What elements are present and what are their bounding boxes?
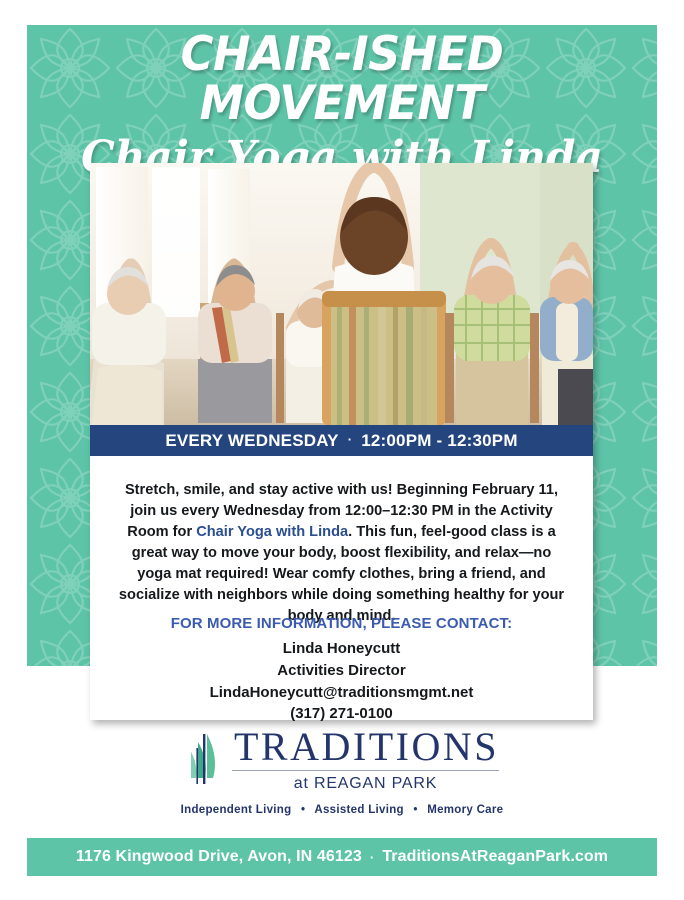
logo-location: at REAGAN PARK — [232, 774, 499, 793]
logo-wordmark: TRADITIONS — [232, 727, 499, 767]
event-description: Stretch, smile, and stay active with us!… — [118, 480, 565, 627]
schedule-time: 12:00PM - 12:30PM — [361, 431, 517, 451]
logo-services-line: Independent Living • Assisted Living • M… — [0, 804, 684, 816]
service-memory-care: Memory Care — [427, 804, 503, 816]
logo-divider — [232, 770, 499, 771]
footer-bar: 1176 Kingwood Drive, Avon, IN 46123 · Tr… — [27, 838, 657, 876]
footer-website[interactable]: TraditionsAtReaganPark.com — [382, 848, 608, 866]
contact-email[interactable]: LindaHoneycutt@traditionsmgmt.net — [118, 682, 565, 704]
flyer-page: CHAIR-ISHED MOVEMENT Chair Yoga with Lin… — [0, 0, 684, 900]
service-independent-living: Independent Living — [181, 804, 292, 816]
contact-name: Linda Honeycutt — [118, 638, 565, 660]
content-card: EVERY WEDNESDAY · 12:00PM - 12:30PM Stre… — [90, 163, 593, 720]
traditions-sail-leaf-icon — [185, 732, 223, 788]
footer-address: 1176 Kingwood Drive, Avon, IN 46123 — [76, 848, 362, 866]
class-name-highlight: Chair Yoga with Linda — [196, 524, 348, 540]
service-separator-2: • — [407, 804, 423, 816]
contact-role: Activities Director — [118, 660, 565, 682]
brand-logo-lockup: TRADITIONS at REAGAN PARK Independent Li… — [0, 727, 684, 816]
schedule-day: EVERY WEDNESDAY — [165, 431, 338, 451]
contact-heading: FOR MORE INFORMATION, PLEASE CONTACT: — [118, 615, 565, 632]
schedule-banner: EVERY WEDNESDAY · 12:00PM - 12:30PM — [90, 425, 593, 456]
chair-yoga-class-photo — [90, 163, 593, 425]
service-assisted-living: Assisted Living — [314, 804, 404, 816]
service-separator-1: • — [295, 804, 311, 816]
contact-block: FOR MORE INFORMATION, PLEASE CONTACT: Li… — [118, 615, 565, 725]
contact-phone[interactable]: (317) 271-0100 — [118, 703, 565, 725]
footer-separator: · — [362, 850, 382, 865]
schedule-separator: · — [339, 432, 362, 447]
